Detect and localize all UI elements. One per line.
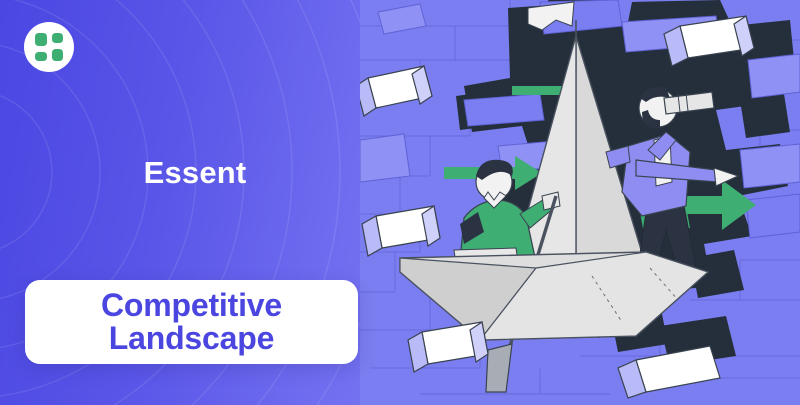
logo-square-bottom-left — [35, 52, 47, 62]
illustration-paper-boat-breaking-wall — [360, 0, 800, 405]
logo-square-top-left — [35, 33, 47, 46]
slide-frame: Essent Competitive Landscape — [0, 0, 800, 405]
title-card: Competitive Landscape — [25, 280, 358, 364]
brand-name: Essent — [0, 155, 390, 191]
grid-squares-logo-icon — [35, 33, 63, 61]
logo-square-top-right — [52, 33, 64, 43]
app-logo[interactable] — [24, 22, 74, 72]
logo-square-bottom-right — [52, 49, 64, 62]
page-title: Competitive Landscape — [101, 289, 282, 356]
